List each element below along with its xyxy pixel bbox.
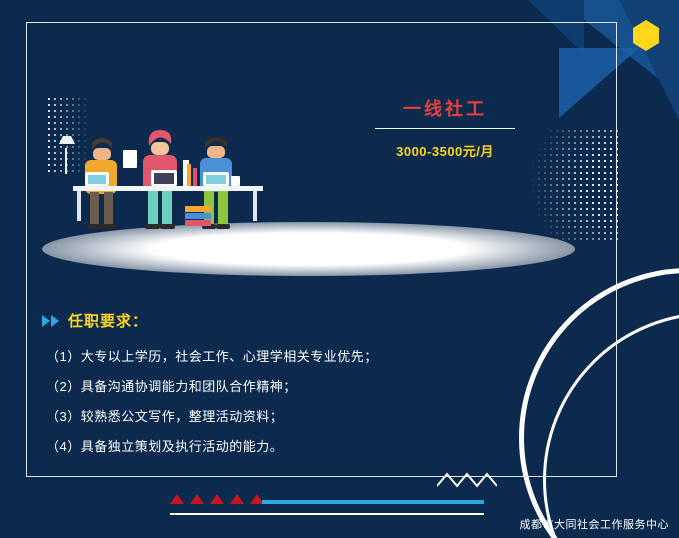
title-divider (375, 128, 515, 129)
white-bar-decoration (170, 513, 484, 515)
triangle-icon (190, 494, 204, 504)
triangle-icon (230, 494, 244, 504)
zigzag-icon (437, 470, 497, 488)
requirements-list: （1）大专以上学历，社会工作、心理学相关专业优先； （2）具备沟通协调能力和团队… (46, 342, 566, 462)
halftone-dots-right (512, 128, 622, 240)
slide-canvas: 一线社工 3000-3500元/月 任职要求： （1）大专以上学历，社会工作、心… (0, 0, 679, 538)
hexagon-icon (633, 28, 659, 43)
illustration-ground-ellipse (42, 222, 575, 276)
triangle-icon (210, 494, 224, 504)
requirements-heading-row: 任职要求： (42, 310, 148, 331)
job-title: 一线社工 (370, 96, 520, 122)
list-item: （1）大专以上学历，社会工作、心理学相关专业优先； (46, 342, 566, 372)
footer-organization: 成都市大同社会工作服务中心 (520, 516, 670, 532)
double-chevron-right-icon (42, 315, 62, 327)
job-title-block: 一线社工 3000-3500元/月 (370, 96, 520, 160)
list-item: （3）较熟悉公文写作，整理活动资料； (46, 402, 566, 432)
triangle-row-decoration (170, 494, 264, 504)
triangle-icon (170, 494, 184, 504)
cyan-bar-decoration (262, 500, 484, 504)
list-item: （2）具备沟通协调能力和团队合作精神； (46, 372, 566, 402)
salary-text: 3000-3500元/月 (370, 141, 520, 160)
people-at-desk-illustration (55, 120, 305, 230)
requirements-heading: 任职要求： (68, 310, 148, 331)
list-item: （4）具备独立策划及执行活动的能力。 (46, 432, 566, 462)
